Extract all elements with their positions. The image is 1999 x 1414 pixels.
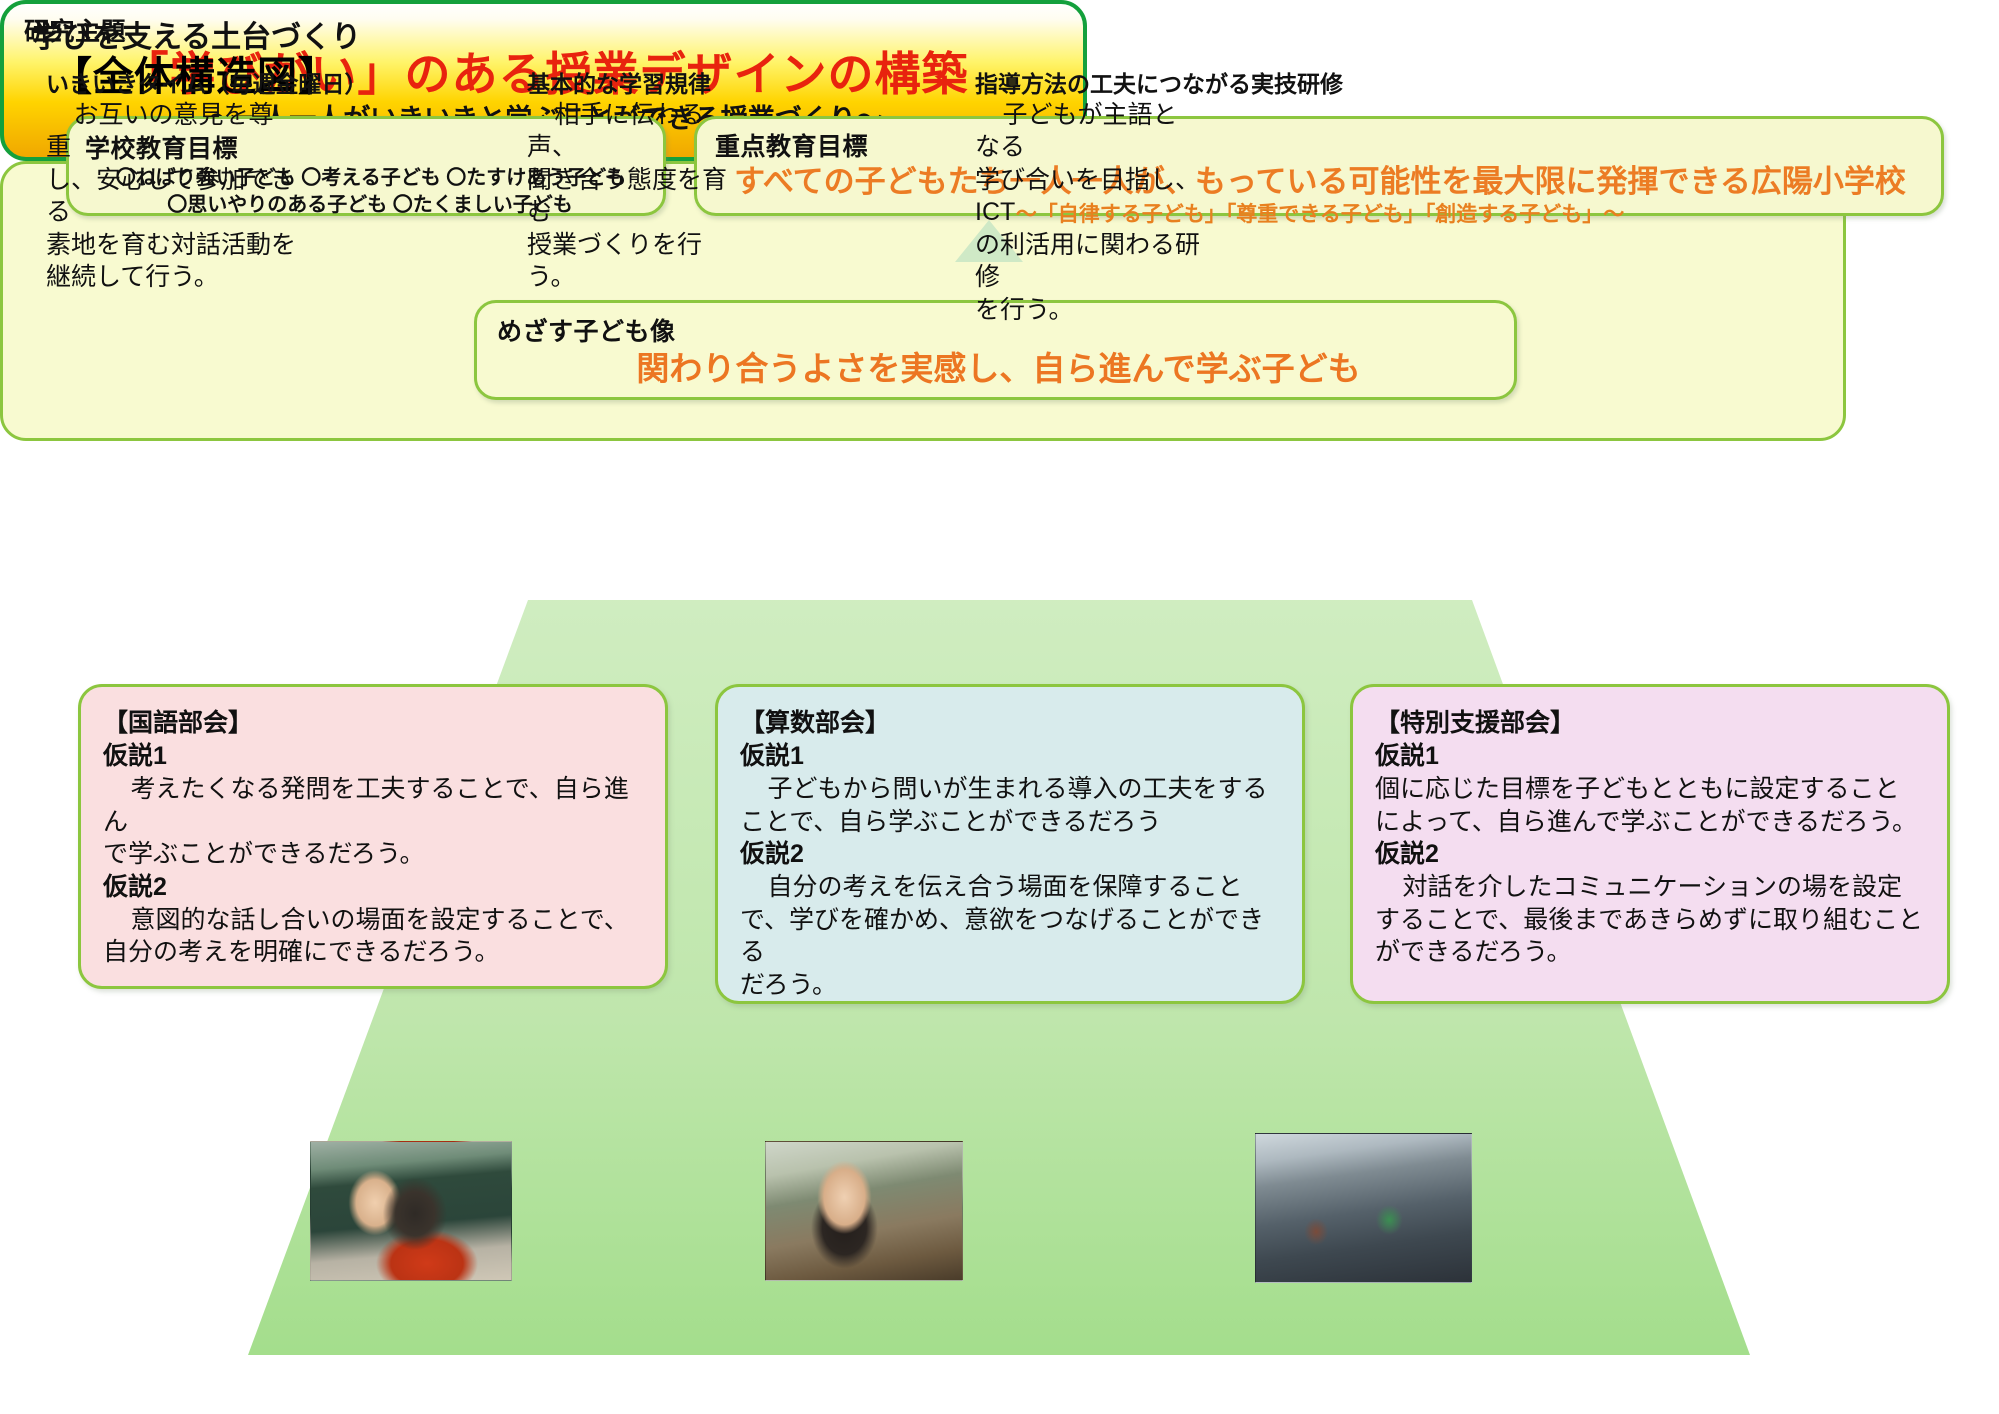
dept-tokushi-hypothesis2-line3: ができるだろう。 [1375, 936, 1927, 969]
foundation-col2-line1: 相手に伝わる声、 [527, 99, 727, 164]
dept-sansu-hypothesis1-line2: ことで、自ら学ぶことができるだろう [740, 806, 1282, 839]
dept-tokushi-hypothesis2-line1: 対話を介したコミュニケーションの場を設定 [1375, 871, 1927, 904]
dept-sansu-hypothesis2-line1: 自分の考えを伝え合う場面を保障すること [740, 871, 1282, 904]
structure-diagram-page: 【全体構造図】 学校教育目標 〇ねばり強い子ども 〇考える子ども 〇たすけあう子… [0, 0, 1999, 1414]
priority-goal-label: 重点教育目標 [715, 127, 1925, 163]
foundation-col2-line2: 聞き合う態度を育む [527, 164, 727, 229]
foundation-col3-line1: 子どもが主語となる [975, 99, 1200, 164]
priority-goal-sub-text: 〜「自律する子ども」「尊重できる子ども」「創造する子ども」〜 [715, 202, 1925, 227]
foundation-title: 学びを支える土台づくり [32, 12, 361, 56]
dept-sansu-hypothesis2-line2: で、学びを確かめ、意欲をつなげることができる [740, 904, 1282, 969]
foundation-col1-line1: お互いの意見を尊重 [46, 99, 296, 164]
foundation-column-learning-discipline: 基本的な学習規律 相手に伝わる声、 聞き合う態度を育む 授業づくりを行う。 [527, 70, 727, 294]
dept-kokugo-hypothesis2-line2: 自分の考えを明確にできるだろう。 [103, 936, 645, 969]
foundation-col3-line3: の利活用に関わる研修 [975, 229, 1200, 294]
foundation-column-ikiiki-time: いきいきタイム（毎週金曜日） お互いの意見を尊重 し、安心して参加できる 素地を… [46, 70, 296, 294]
foundation-col1-title: いきいきタイム（毎週金曜日） [46, 70, 296, 99]
dept-tokushi-hypothesis2-label: 仮説2 [1375, 838, 1927, 871]
dept-tokushi-hypothesis2-line2: することで、最後まであきらめずに取り組むこと [1375, 904, 1927, 937]
dept-sansu-hypothesis1-line1: 子どもから問いが生まれる導入の工夫をする [740, 773, 1282, 806]
foundation-col1-line4: 継続して行う。 [46, 261, 296, 294]
foundation-col3-line4: を行う。 [975, 294, 1200, 327]
classroom-dialogue-photo [310, 1141, 512, 1281]
foundation-col1-line3: 素地を育む対話活動を [46, 229, 296, 262]
dept-kokugo-title: 【国語部会】 [103, 707, 645, 740]
teacher-training-photo [1255, 1133, 1472, 1283]
department-card-sansu: 【算数部会】 仮説1 子どもから問いが生まれる導入の工夫をする ことで、自ら学ぶ… [715, 684, 1305, 1004]
department-card-kokugo: 【国語部会】 仮説1 考えたくなる発問を工夫することで、自ら進ん で学ぶことがで… [78, 684, 668, 989]
dept-kokugo-hypothesis1-line1: 考えたくなる発問を工夫することで、自ら進ん [103, 773, 645, 838]
dept-kokugo-hypothesis1-line2: で学ぶことができるだろう。 [103, 838, 645, 871]
dept-sansu-title: 【算数部会】 [740, 707, 1282, 740]
foundation-col2-title: 基本的な学習規律 [527, 70, 727, 99]
dept-tokushi-title: 【特別支援部会】 [1375, 707, 1927, 740]
target-child-main-text: 関わり合うよさを実感し、自ら進んで学ぶ子ども [497, 351, 1500, 387]
dept-tokushi-hypothesis1-line2: によって、自ら進んで学ぶことができるだろう。 [1375, 806, 1927, 839]
dept-kokugo-hypothesis2-line1: 意図的な話し合いの場面を設定することで、 [103, 904, 645, 937]
department-card-tokubetsu-shien: 【特別支援部会】 仮説1 個に応じた目標を子どもとともに設定すること によって、… [1350, 684, 1950, 1004]
dept-kokugo-hypothesis2-label: 仮説2 [103, 871, 645, 904]
priority-goal-main-text: すべての子どもたち一人一人が、もっている可能性を最大限に発揮できる広陽小学校 [715, 164, 1925, 200]
priority-education-goal-card: 重点教育目標 すべての子どもたち一人一人が、もっている可能性を最大限に発揮できる… [694, 116, 1944, 216]
dept-sansu-hypothesis2-label: 仮説2 [740, 838, 1282, 871]
foundation-col3-title: 指導方法の工夫につながる実技研修 [975, 70, 1200, 99]
student-laptop-photo [765, 1141, 963, 1281]
foundation-column-teacher-training: 指導方法の工夫につながる実技研修 子どもが主語となる 学び合いを目指し、ICT … [975, 70, 1200, 326]
foundation-col2-line3: 授業づくりを行う。 [527, 229, 727, 294]
foundation-col3-line2: 学び合いを目指し、ICT [975, 164, 1200, 229]
foundation-col1-line2: し、安心して参加できる [46, 164, 296, 229]
dept-sansu-hypothesis1-label: 仮説1 [740, 740, 1282, 773]
dept-kokugo-hypothesis1-label: 仮説1 [103, 740, 645, 773]
dept-tokushi-hypothesis1-line1: 個に応じた目標を子どもとともに設定すること [1375, 773, 1927, 806]
dept-sansu-hypothesis2-line3: だろう。 [740, 969, 1282, 1002]
dept-tokushi-hypothesis1-label: 仮説1 [1375, 740, 1927, 773]
